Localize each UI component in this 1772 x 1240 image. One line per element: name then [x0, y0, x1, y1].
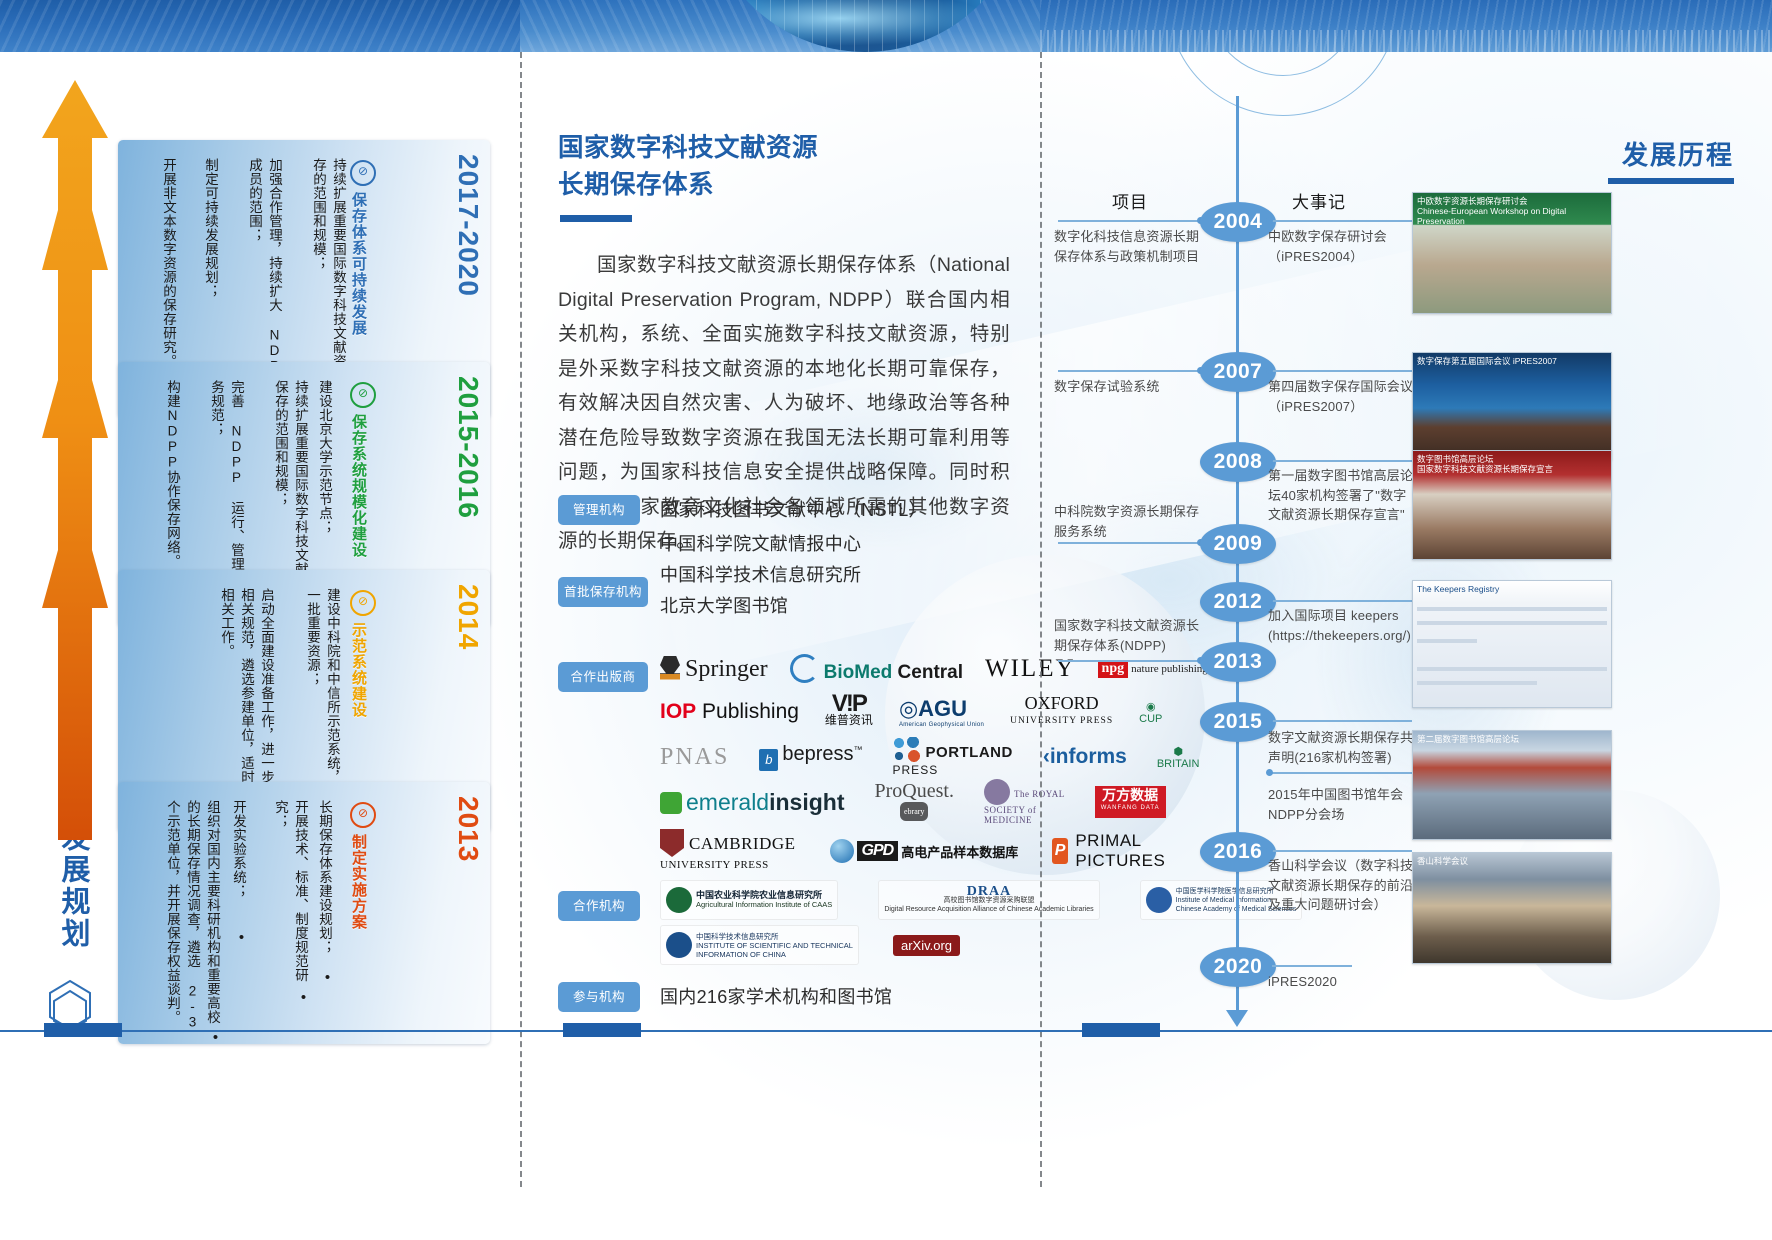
- banner-left-segment: [0, 0, 520, 52]
- bottom-block-left: [44, 1023, 122, 1037]
- timeline-dot: [1266, 457, 1273, 464]
- timeline-dot: [1266, 769, 1273, 776]
- plan-bullet: 制定可持续发展规划；: [200, 158, 220, 396]
- timeline-node-2004[interactable]: 2004: [1200, 202, 1276, 242]
- timeline-connector: [1058, 370, 1204, 372]
- bepress-logo: bbepress™: [759, 740, 862, 774]
- plan-bullet: 持续扩展重要国际数字科技文献资源保存的范围和规模；: [308, 158, 348, 396]
- portland-press-logo: PORTLANDPRESS: [893, 740, 1013, 774]
- timeline-dot: [1266, 847, 1273, 854]
- photo-xiangshan-conference[interactable]: 香山科学会议: [1412, 852, 1612, 964]
- timeline-connector: [1272, 600, 1412, 602]
- banner-dot-pattern: [1040, 30, 1772, 52]
- timeline-connector: [1272, 460, 1412, 462]
- bottom-block-center: [563, 1023, 641, 1037]
- timeline-node-2020[interactable]: 2020: [1200, 947, 1276, 987]
- plan-bullet: 开发实验系统；: [228, 800, 248, 930]
- timeline-connector: [1272, 370, 1412, 372]
- springer-logo: Springer: [660, 652, 768, 686]
- fold-line-left: [520, 52, 522, 1187]
- bottom-rule: [0, 1030, 1772, 1032]
- timeline-connector: [1272, 772, 1412, 774]
- timeline-connector: [1272, 720, 1412, 722]
- timeline-project-2009: 中科院数字资源长期保存 服务系统: [1054, 502, 1209, 541]
- timeline-column-header-events: 大事记: [1292, 188, 1346, 213]
- timeline-title-underline: [1608, 178, 1734, 184]
- photo-caption: 中欧数字资源长期保存研讨会 Chinese-European Workshop …: [1413, 193, 1611, 229]
- plan-step-heading: 示范系统建设: [348, 622, 369, 752]
- timeline-column-header-project: 项目: [1112, 188, 1148, 213]
- banner-globe-icon: [700, 0, 1030, 52]
- plan-step-year: 2014: [444, 584, 484, 650]
- page-title-line1: 国家数字科技文献资源: [558, 130, 998, 167]
- photo-caption: 数字保存第五届国际会议 iPRES2007: [1413, 353, 1611, 369]
- plan-step-year: 2013: [444, 796, 484, 862]
- plan-bullet: 完善 NDPP 运行、管理和服务规范；: [206, 380, 246, 600]
- timeline-project-2007: 数字保存试验系统: [1054, 377, 1209, 397]
- plan-step-year: 2015-2016: [444, 376, 484, 519]
- timeline-dot: [1266, 597, 1273, 604]
- timeline-axis-arrow: [1226, 1010, 1248, 1027]
- timeline-node-2007[interactable]: 2007: [1200, 352, 1276, 392]
- title-underline: [560, 215, 632, 222]
- caas-agricultural-info-institute-logo: 中国农业科学院农业信息研究所Agricultural Information I…: [660, 880, 838, 920]
- timeline-dot: [1266, 367, 1273, 374]
- plan-bullet: 长期保存体系建设规划；: [314, 800, 334, 970]
- timeline-connector: [1272, 850, 1412, 852]
- timeline-project-2013: 国家数字科技文献资源长 期保存体系(NDPP): [1054, 616, 1209, 655]
- center-panel-overview: 国家数字科技文献资源 长期保存体系 国家数字科技文献资源长期保存体系（Natio…: [520, 52, 1040, 1052]
- page-title-line2: 长期保存体系: [558, 167, 998, 204]
- shield-icon: ⊘: [350, 382, 376, 408]
- photo-caption: 数字图书馆高层论坛 国家数字科技文献资源长期保存宣言: [1413, 451, 1611, 477]
- timeline-node-2009[interactable]: 2009: [1200, 524, 1276, 564]
- gpd-logo: GPD高电产品样本数据库: [830, 834, 1019, 868]
- timeline-node-2013[interactable]: 2013: [1200, 642, 1276, 682]
- tag-first-preservation-orgs: 首批保存机构: [558, 577, 648, 607]
- tag-managing-org: 管理机构: [558, 495, 640, 525]
- timeline-event-2004: 中欧数字保存研讨会 （iPRES2004）: [1268, 227, 1418, 266]
- arxiv-logo: arXiv.org: [893, 928, 960, 962]
- istic-logo: 中国科学技术信息研究所INSTITUTE OF SCIENTIFIC AND T…: [660, 925, 859, 965]
- plan-bullet: 开展非文本数字资源的保存研究。: [158, 158, 178, 396]
- timeline-node-2016[interactable]: 2016: [1200, 832, 1276, 872]
- shield-icon: ⊘: [350, 802, 376, 828]
- plan-step-heading: 制定实施方案: [348, 834, 369, 954]
- plan-bullet: 构建NDPP协作保存网络。: [162, 380, 182, 590]
- bottom-block-right: [1082, 1023, 1160, 1037]
- plan-bullet: 开展技术、标准、制度规范研究；: [270, 800, 310, 990]
- tag-partner-publishers: 合作出版商: [558, 662, 648, 692]
- vip-logo: V!P维普资讯: [825, 695, 873, 729]
- timeline-connector: [1058, 660, 1204, 662]
- emerald-insight-logo: emeraldinsight: [660, 785, 845, 819]
- timeline-dot: [1266, 217, 1273, 224]
- plan-step-heading: 保存体系可持续发展: [348, 192, 369, 352]
- timeline-title: 发展历程: [1622, 135, 1734, 172]
- participating-orgs-value: 国内216家学术机构和图书馆: [660, 982, 892, 1012]
- timeline-dot: [1266, 717, 1273, 724]
- shield-icon: ⊘: [350, 590, 376, 616]
- cambridge-university-press-logo: CAMBRIDGEUNIVERSITY PRESS: [660, 834, 796, 868]
- photo-ipres2007[interactable]: 数字保存第五届国际会议 iPRES2007: [1412, 352, 1612, 460]
- plan-bullet: 加强合作管理，持续扩大 NDPP 成员的范围；: [244, 158, 284, 396]
- page-title-development-plan: 发展规划: [46, 822, 94, 950]
- photo-caption: 香山科学会议: [1413, 853, 1611, 869]
- proquest-logo: ProQuest.ebrary: [875, 785, 954, 819]
- fold-line-right: [1040, 52, 1042, 1187]
- timeline-connector: [1272, 220, 1412, 222]
- photo-digital-library-forum[interactable]: 数字图书馆高层论坛 国家数字科技文献资源长期保存宣言: [1412, 450, 1612, 560]
- biomed-central-logo: BioMed Central: [790, 652, 963, 686]
- plan-step-2013[interactable]: 2013 ⊘ 制定实施方案 长期保存体系建设规划； 开展技术、标准、制度规范研究…: [118, 782, 490, 1044]
- timeline-project-2004: 数字化科技信息资源长期 保存体系与政策机制项目: [1054, 227, 1204, 266]
- tag-partner-institutions: 合作机构: [558, 891, 640, 921]
- timeline-connector: [1058, 542, 1204, 544]
- photo-caption: 第二届数字图书馆高层论坛: [1413, 731, 1611, 747]
- first-preservation-orgs-value: 中国科学院文献情报中心 中国科学技术信息研究所 北京大学图书馆: [660, 529, 861, 622]
- photo-caption: The Keepers Registry: [1413, 581, 1611, 597]
- partner-logo-row-2: 中国科学技术信息研究所INSTITUTE OF SCIENTIFIC AND T…: [660, 925, 960, 965]
- tag-participating-orgs: 参与机构: [558, 982, 640, 1012]
- timeline-event-2007: 第四届数字保存国际会议 （iPRES2007）: [1268, 377, 1423, 416]
- timeline-node-2008[interactable]: 2008: [1200, 442, 1276, 482]
- photo-keepers-registry[interactable]: The Keepers Registry: [1412, 580, 1612, 708]
- plan-step-heading: 保存系统规模化建设: [348, 414, 369, 574]
- timeline-connector: [1058, 220, 1204, 222]
- shield-icon: ⊘: [350, 160, 376, 186]
- timeline-node-2015[interactable]: 2015: [1200, 702, 1276, 742]
- iop-publishing-logo: IOP Publishing: [660, 695, 799, 729]
- upward-arrow-graphic: [40, 80, 110, 840]
- timeline-connector: [1272, 965, 1352, 967]
- photo-joint-statement[interactable]: 第二届数字图书馆高层论坛: [1412, 730, 1612, 840]
- pnas-logo: PNAS: [660, 740, 729, 774]
- managing-org-value: 国家科技图书文献中心（NSTL）: [660, 495, 927, 525]
- plan-bullet: 组织对国内主要科研机构和重要高校的长期保存情况调查，遴选 2-3 个示范单位，并…: [162, 800, 222, 1030]
- agu-logo: ◎AGUAmerican Geophysical Union: [899, 695, 984, 729]
- left-panel-development-plan: 2017-2020 ⊘ 保存体系可持续发展 持续扩展重要国际数字科技文献资源保存…: [0, 52, 520, 1052]
- plan-step-year: 2017-2020: [444, 154, 484, 297]
- timeline-node-2012[interactable]: 2012: [1200, 582, 1276, 622]
- photo-ipres2004[interactable]: 中欧数字资源长期保存研讨会 Chinese-European Workshop …: [1412, 192, 1612, 314]
- page-title: 国家数字科技文献资源 长期保存体系: [558, 130, 998, 204]
- timeline-event-2020: iPRES2020: [1268, 972, 1418, 992]
- plan-bullet: 建设中科院和中信所示范系统，保存一批重要资源；: [302, 588, 342, 813]
- timeline-event-2008: 第一届数字图书馆高层论 坛40家机构签署了"数字 文献资源长期保存宣言": [1268, 466, 1430, 525]
- plan-bullet: 建设北京大学示范节点；: [314, 380, 334, 600]
- right-panel-timeline: 发展历程 项目 大事记 2004 数字化科技信息资源长期 保存体系与政策机制项目…: [1040, 52, 1772, 1052]
